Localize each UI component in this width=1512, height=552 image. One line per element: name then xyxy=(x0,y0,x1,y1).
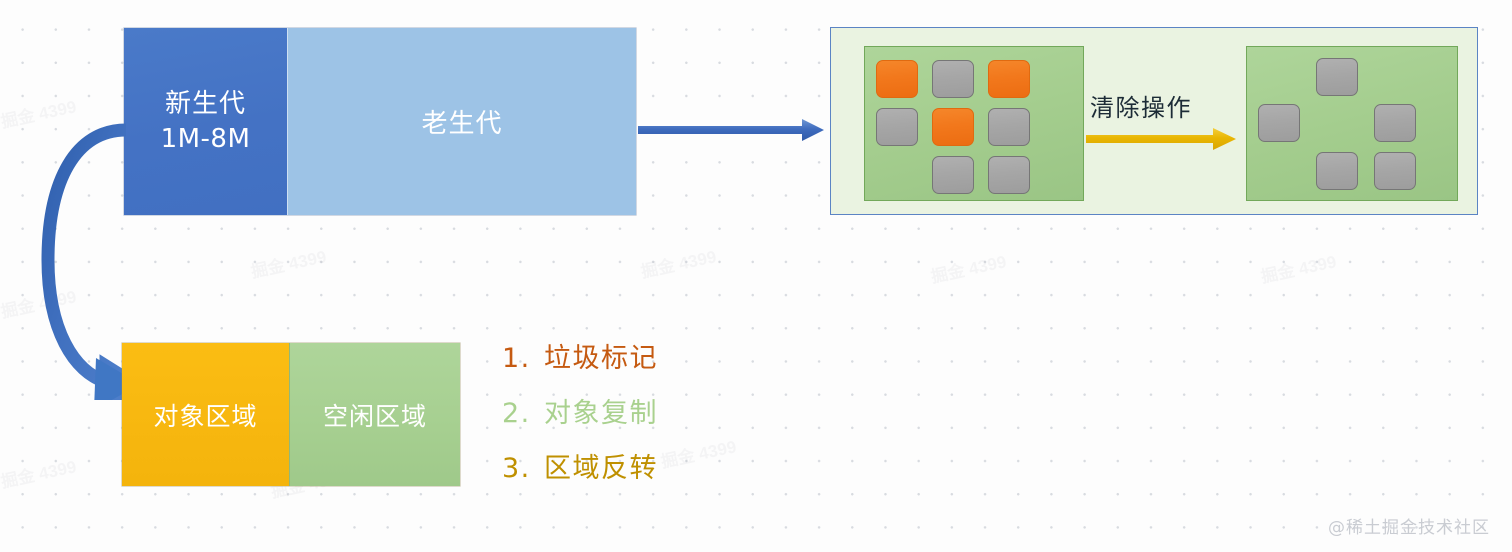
heap-cell-live[interactable] xyxy=(988,108,1030,146)
young-generation-size: 1M-8M xyxy=(161,122,251,156)
flow-arrow-icon xyxy=(636,112,826,148)
heap-cell-garbage[interactable] xyxy=(876,60,918,98)
sweep-arrow-icon xyxy=(1085,126,1237,152)
step-label: 对象复制 xyxy=(544,391,658,430)
heap-cell-garbage[interactable] xyxy=(988,60,1030,98)
background-watermark: 掘金 4399 xyxy=(0,452,78,492)
diagram-canvas: 掘金 4399 掘金 4399 掘金 4399 掘金 4399 掘金 4399 … xyxy=(0,0,1512,552)
step-number: 3. xyxy=(502,453,544,484)
heap-cell-live[interactable] xyxy=(932,156,974,194)
list-item: 1. 垃圾标记 xyxy=(502,336,752,391)
background-watermark: 掘金 4399 xyxy=(928,247,1008,287)
heap-cell-live[interactable] xyxy=(932,60,974,98)
list-item: 3. 区域反转 xyxy=(502,446,752,501)
free-region-block[interactable]: 空闲区域 xyxy=(289,343,460,486)
heap-cell-live[interactable] xyxy=(876,108,918,146)
heap-cell-live[interactable] xyxy=(1316,58,1358,96)
step-label: 垃圾标记 xyxy=(544,336,658,375)
region-bar: 对象区域 空闲区域 xyxy=(122,343,460,486)
step-label: 区域反转 xyxy=(544,446,658,485)
heap-cell-live[interactable] xyxy=(1258,104,1300,142)
step-number: 2. xyxy=(502,398,544,429)
heap-cell-live[interactable] xyxy=(1316,152,1358,190)
background-watermark: 掘金 4399 xyxy=(638,242,718,282)
old-generation-label: 老生代 xyxy=(421,103,502,140)
background-watermark: 掘金 4399 xyxy=(1258,247,1338,287)
heap-cell-live[interactable] xyxy=(988,156,1030,194)
object-region-block[interactable]: 对象区域 xyxy=(122,343,289,486)
step-number: 1. xyxy=(502,343,544,374)
generation-bar: 新生代 1M-8M 老生代 xyxy=(124,28,636,215)
object-region-label: 对象区域 xyxy=(153,397,257,433)
brand-watermark: @稀土掘金技术社区 xyxy=(1328,513,1490,538)
steps-list: 1. 垃圾标记 2. 对象复制 3. 区域反转 xyxy=(502,336,752,501)
heap-cell-live[interactable] xyxy=(1374,152,1416,190)
background-watermark: 掘金 4399 xyxy=(248,242,328,282)
list-item: 2. 对象复制 xyxy=(502,391,752,446)
sweep-operation-label: 清除操作 xyxy=(1090,88,1192,123)
heap-cell-live[interactable] xyxy=(1374,104,1416,142)
young-generation-label: 新生代 xyxy=(165,87,246,121)
free-region-label: 空闲区域 xyxy=(323,397,427,433)
heap-cell-garbage[interactable] xyxy=(932,108,974,146)
old-generation-block[interactable]: 老生代 xyxy=(287,28,636,215)
